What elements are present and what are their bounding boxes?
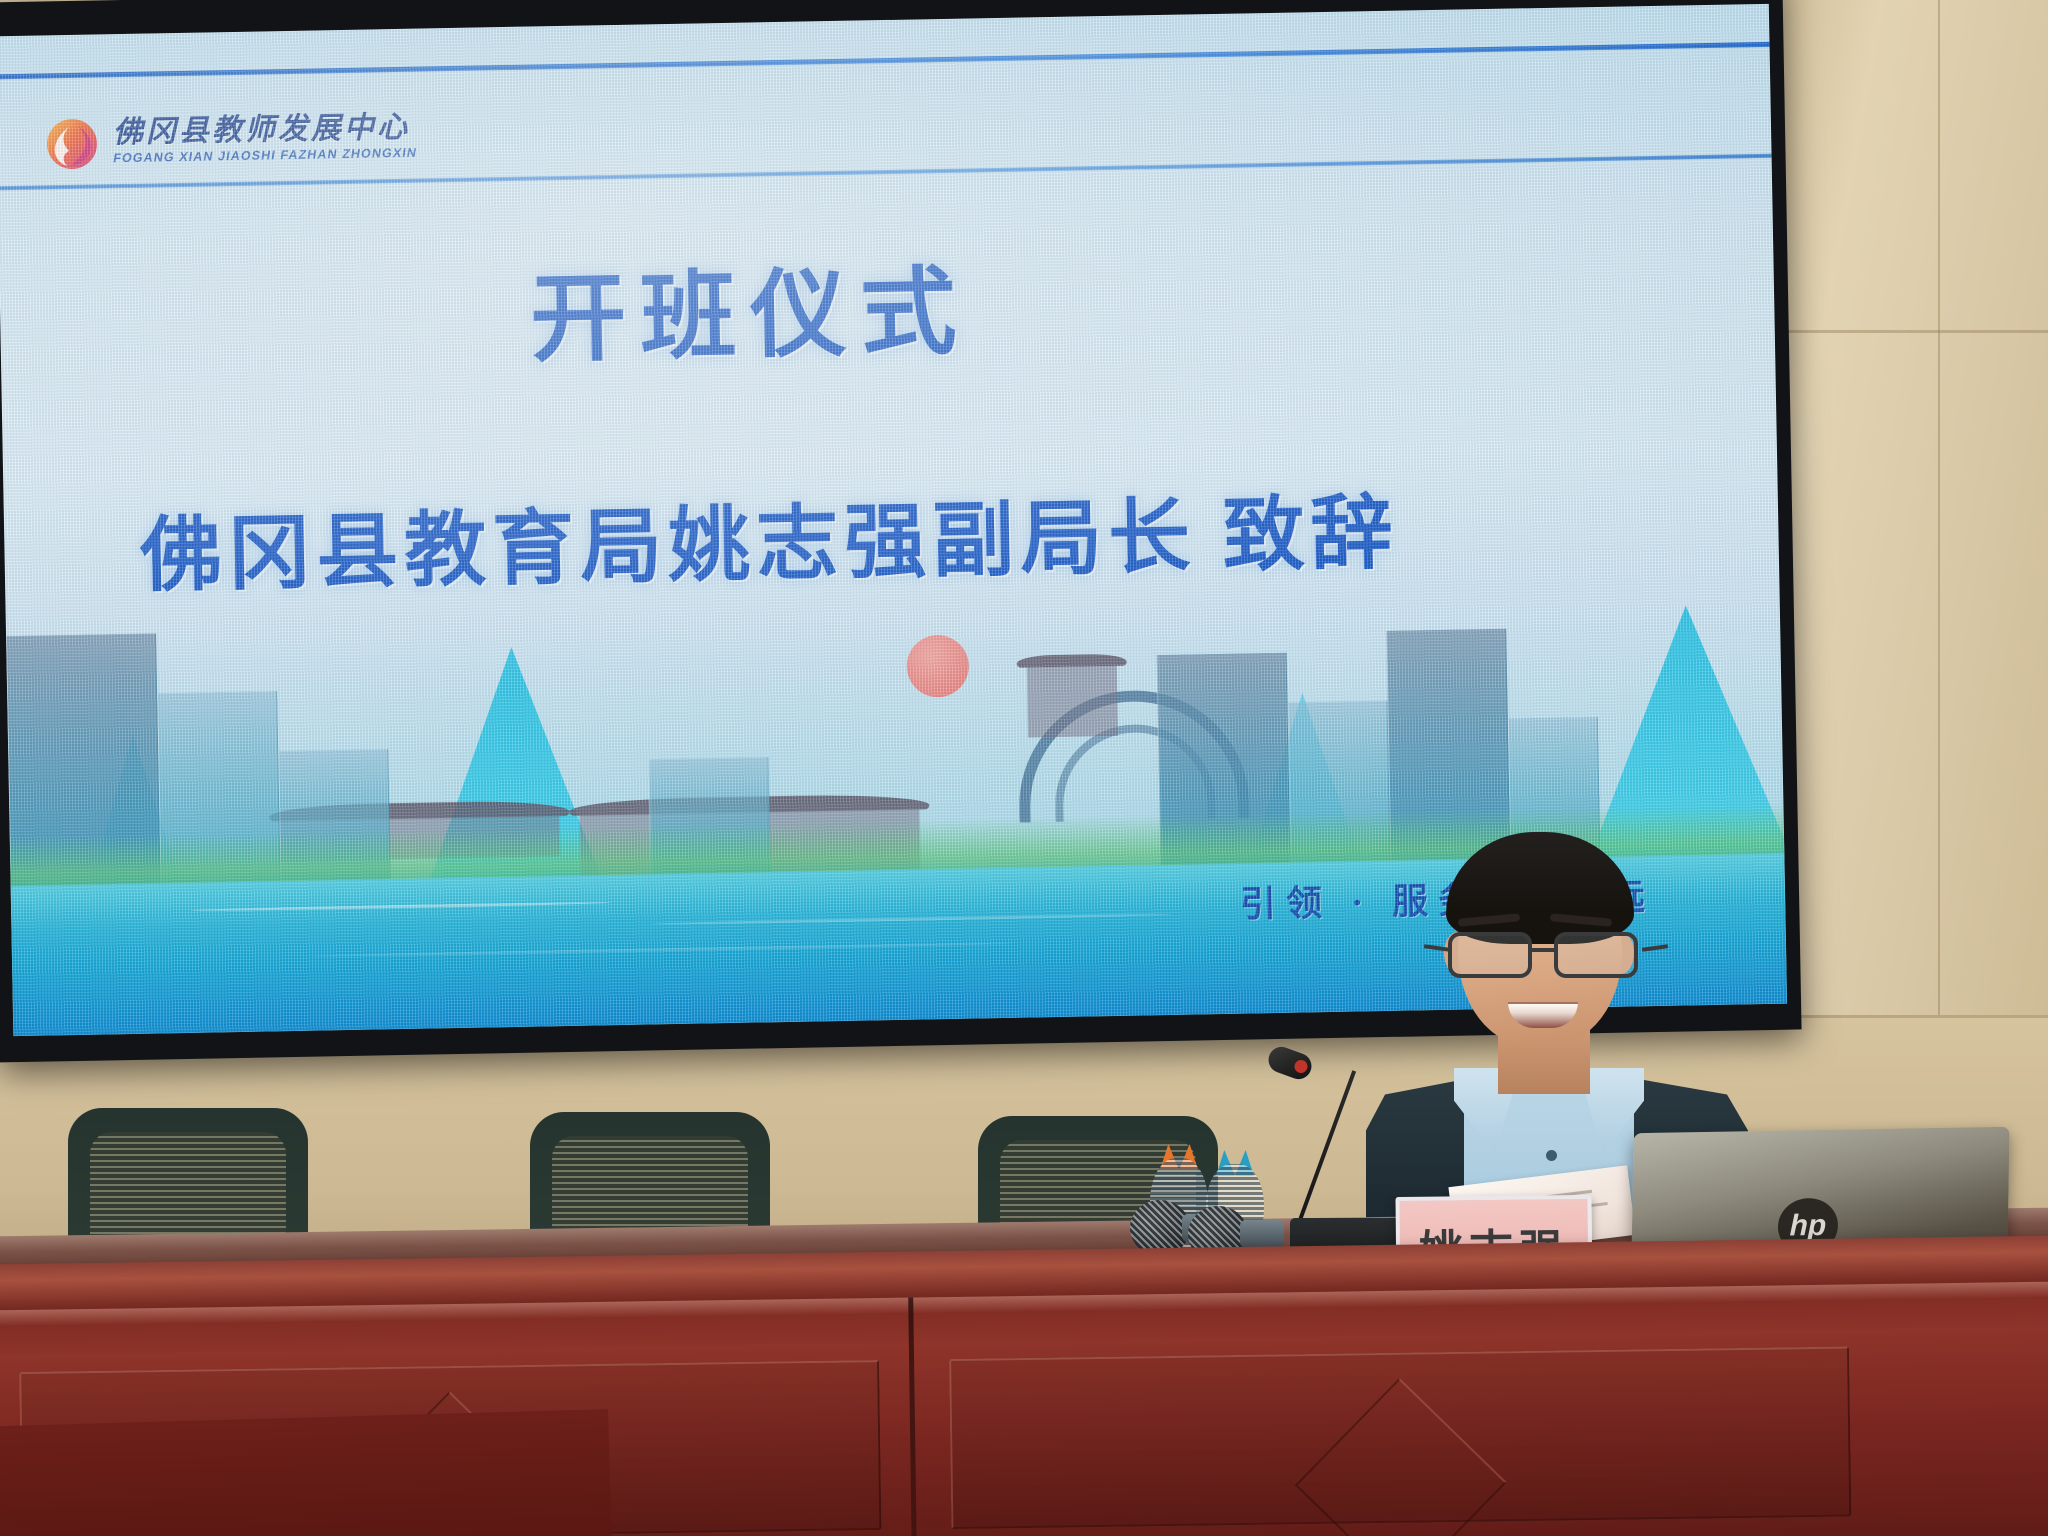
sun-disc	[906, 635, 969, 698]
podium-lower-riser	[0, 1409, 612, 1536]
flame-logo-icon	[42, 112, 101, 171]
hair	[1446, 832, 1634, 944]
podium-front-seam	[908, 1298, 917, 1536]
slide-logo: 佛冈县教师发展中心 FOGANG XIAN JIAOSHI FAZHAN ZHO…	[42, 107, 417, 172]
wall-panel-right	[1758, 0, 2048, 1130]
hp-logo-text: hp	[1789, 1211, 1826, 1242]
wall-panel-line	[1758, 330, 2048, 333]
slide-top-rule	[0, 42, 1770, 80]
shirt-button	[1546, 1150, 1557, 1161]
wall-panel-line	[1938, 0, 1940, 1130]
eyeglasses	[1442, 932, 1650, 980]
logo-name-pinyin: FOGANG XIAN JIAOSHI FAZHAN ZHONGXIN	[112, 146, 418, 164]
podium-front-panel	[949, 1346, 1851, 1529]
logo-name-cn: 佛冈县教师发展中心	[113, 112, 417, 148]
slide-subtitle: 佛冈县教育局姚志强副局长 致辞	[3, 463, 1535, 610]
slide-title: 开班仪式	[0, 224, 1501, 390]
conference-room-photo: 佛冈县教师发展中心 FOGANG XIAN JIAOSHI FAZHAN ZHO…	[0, 0, 2048, 1536]
pagoda-tower	[1017, 654, 1128, 738]
